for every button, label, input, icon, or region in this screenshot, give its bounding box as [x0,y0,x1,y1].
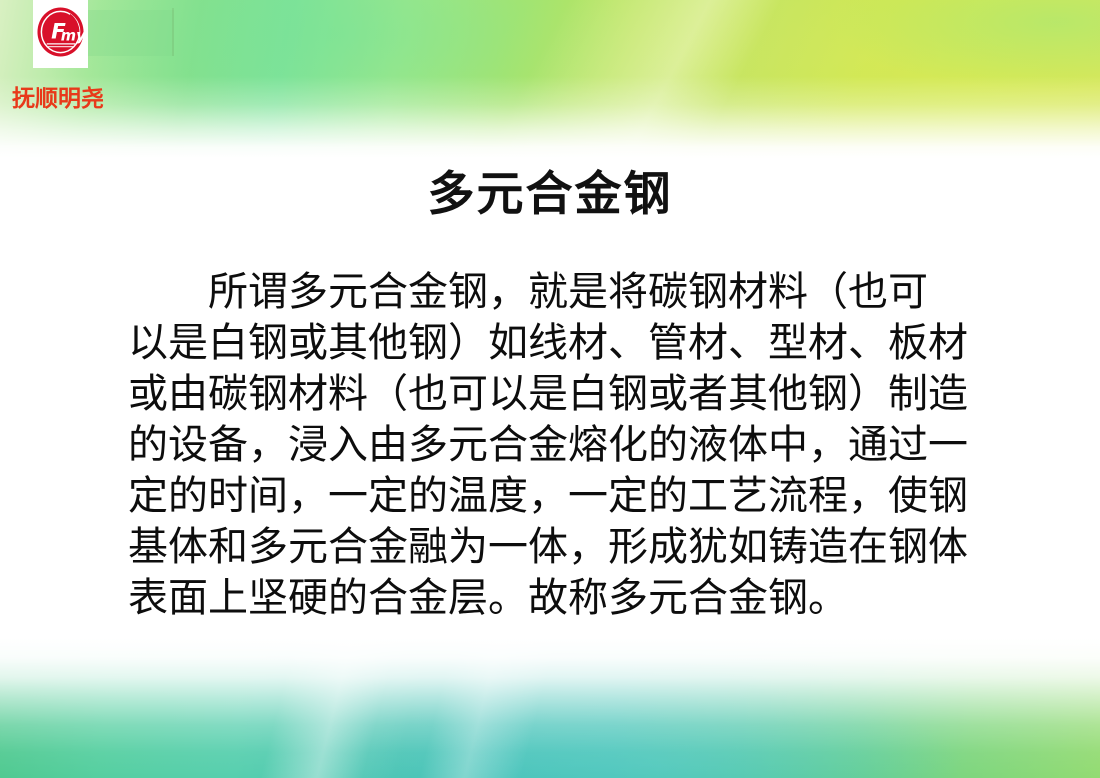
company-logo: F my [33,0,88,68]
header-decorative-band [0,0,1100,158]
footer-decorative-band [0,638,1100,778]
body-line: 基体和多元合金融为一体，形成犹如铸造在钢体 [128,522,1033,573]
svg-text:my: my [61,27,85,44]
slide-title: 多元合金钢 [0,167,1100,223]
body-line: 的设备，浸入由多元合金熔化的液体中，通过一 [128,420,1033,471]
body-line: 所谓多元合金钢，就是将碳钢材料（也可 [128,267,1033,318]
fmy-circle-logo-icon: F my [36,6,85,58]
body-line: 以是白钢或其他钢）如线材、管材、型材、板材 [128,318,1033,369]
body-line: 表面上坚硬的合金层。故称多元合金钢。 [128,573,1033,624]
footer-white-fade [0,638,1100,778]
company-name-label: 抚顺明尧 [12,79,104,113]
slide-body-paragraph: 所谓多元合金钢，就是将碳钢材料（也可 以是白钢或其他钢）如线材、管材、型材、板材… [128,267,1033,624]
body-line: 或由碳钢材料（也可以是白钢或者其他钢）制造 [128,369,1033,420]
presentation-slide: F my 抚顺明尧 多元合金钢 所谓多元合金钢，就是将碳钢材料（也可 以是白钢或… [0,0,1100,778]
header-white-fade [0,0,1100,158]
slide-content: 多元合金钢 所谓多元合金钢，就是将碳钢材料（也可 以是白钢或其他钢）如线材、管材… [0,150,1100,650]
body-line: 定的时间，一定的温度，一定的工艺流程，使钢 [128,471,1033,522]
